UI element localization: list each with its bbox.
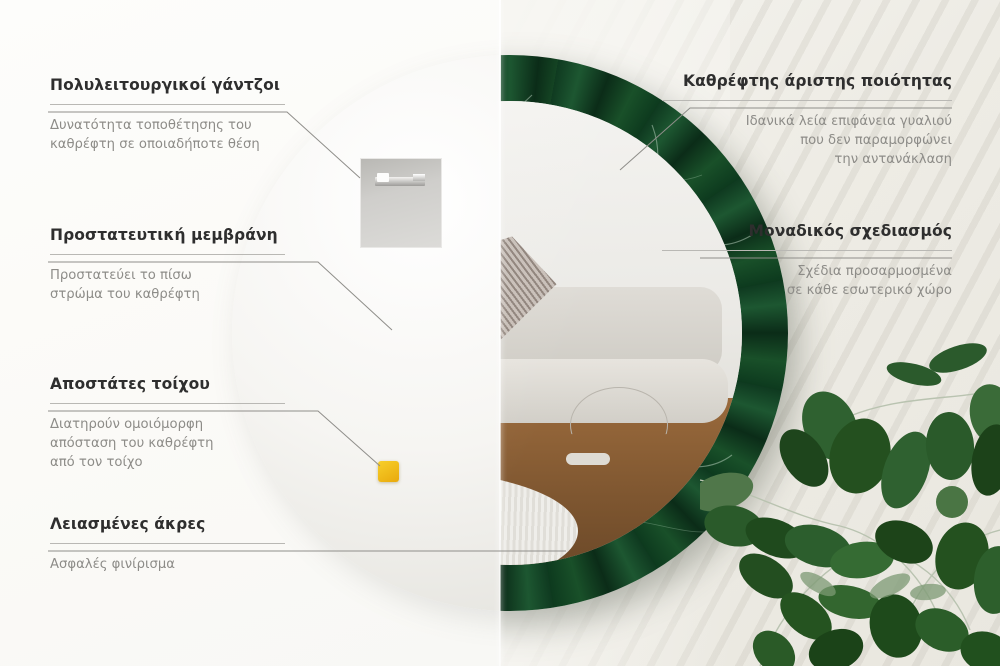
callout-spacers-title: Αποστάτες τοίχου <box>50 375 285 394</box>
callout-hooks-rule <box>50 104 285 105</box>
callout-spacers-body: Διατηρούν ομοιόμορφη απόσταση του καθρέφ… <box>50 415 285 472</box>
callout-edges-title: Λειασμένες άκρες <box>50 515 285 534</box>
foreground-plant <box>700 330 1000 666</box>
callout-spacers: Αποστάτες τοίχου Διατηρούν ομοιόμορφη απ… <box>50 375 285 472</box>
callout-membrane-body: Προστατεύει το πίσω στρώμα του καθρέφτη <box>50 266 285 304</box>
callout-design-title: Μοναδικός σχεδιασμός <box>662 222 952 241</box>
callout-design-body: Σχέδια προσαρμοσμένα σε κάθε εσωτερικό χ… <box>662 262 952 300</box>
callout-hooks-body: Δυνατότητα τοποθέτησης του καθρέφτη σε ο… <box>50 116 285 154</box>
callout-quality: Καθρέφτης άριστης ποιότητας Ιδανικά λεία… <box>662 72 952 169</box>
callout-quality-title: Καθρέφτης άριστης ποιότητας <box>662 72 952 91</box>
callout-design: Μοναδικός σχεδιασμός Σχέδια προσαρμοσμέν… <box>662 222 952 300</box>
infographic-canvas: Πολυλειτουργικοί γάντζοι Δυνατότητα τοπο… <box>0 0 1000 666</box>
callout-edges-body: Ασφαλές φινίρισμα <box>50 555 285 574</box>
callout-quality-body: Ιδανικά λεία επιφάνεια γυαλιού που δεν π… <box>662 112 952 169</box>
callout-hooks-title: Πολυλειτουργικοί γάντζοι <box>50 76 285 95</box>
panel-divider <box>499 0 501 666</box>
hook-plate-detail <box>360 158 442 248</box>
callout-edges: Λειασμένες άκρες Ασφαλές φινίρισμα <box>50 515 285 574</box>
callout-edges-rule <box>50 543 285 544</box>
callout-hooks: Πολυλειτουργικοί γάντζοι Δυνατότητα τοπο… <box>50 76 285 154</box>
callout-membrane: Προστατευτική μεμβράνη Προστατεύει το πί… <box>50 226 285 304</box>
callout-design-rule <box>662 250 952 251</box>
callout-spacers-rule <box>50 403 285 404</box>
plant-leaves-icon <box>700 330 1000 666</box>
callout-membrane-title: Προστατευτική μεμβράνη <box>50 226 285 245</box>
wall-spacer-detail <box>378 461 399 482</box>
callout-quality-rule <box>662 100 952 101</box>
hook-hardware-secondary-icon <box>413 174 425 181</box>
callout-membrane-rule <box>50 254 285 255</box>
